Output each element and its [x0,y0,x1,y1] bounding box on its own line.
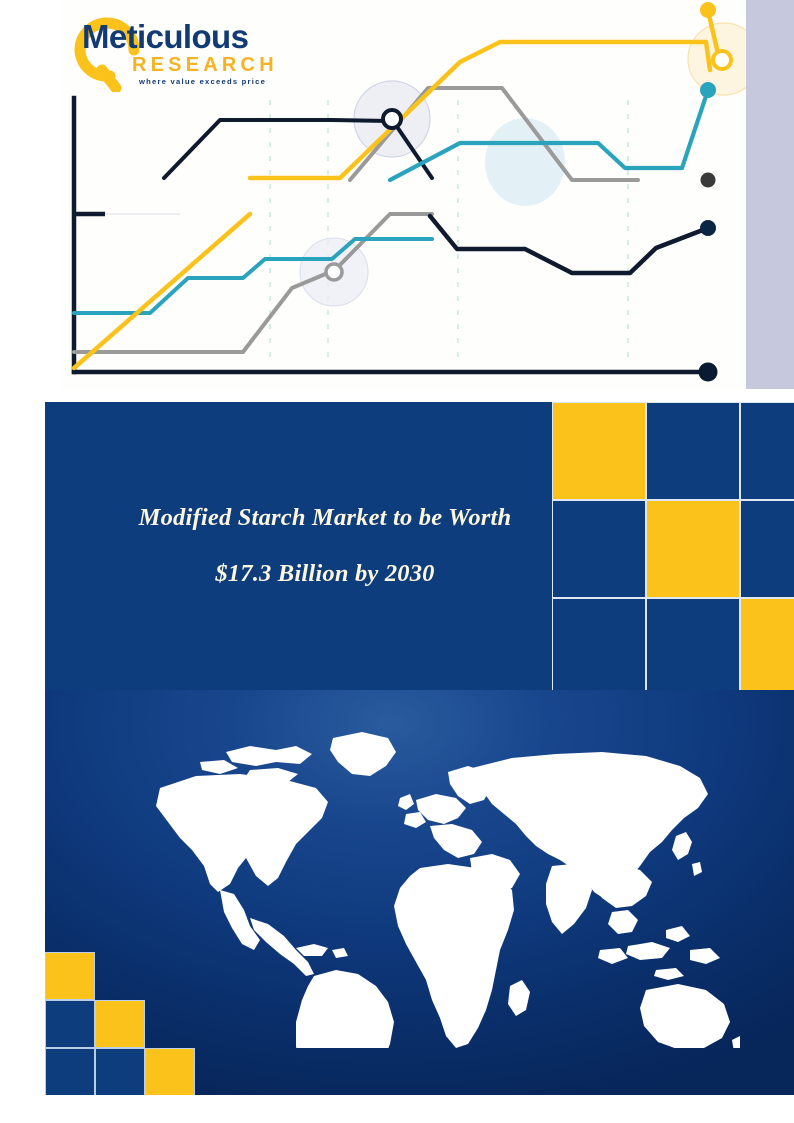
end-dot-ink [700,220,716,236]
grid-cell-r3c3 [740,598,794,690]
page-title-line-1: Modified Starch Market to be Worth [75,490,575,546]
marker-gray-hollow [326,264,342,280]
logo-svg: Meticulous RESEARCH where value exceeds … [72,6,302,92]
logo-wordmark-primary: Meticulous [82,18,248,55]
stair-cell-r3c3 [145,1048,195,1095]
grid-cell-r1c1 [552,402,646,500]
world-map-panel [45,690,794,1095]
world-map-landmass [156,732,740,1048]
stair-cell-r2c1 [45,1000,95,1048]
page-title: Modified Starch Market to be Worth $17.3… [75,490,575,602]
report-cover-page: Meticulous RESEARCH where value exceeds … [0,0,794,1123]
right-accent-band [746,0,794,389]
end-dot-yellow [700,2,716,18]
end-dot-teal [700,82,716,98]
checker-grid-decoration [552,402,794,690]
end-dot-baseline [699,363,718,382]
meticulous-research-logo[interactable]: Meticulous RESEARCH where value exceeds … [72,6,302,92]
marker-yellow-hollow [713,51,731,69]
grid-cell-r2c1 [552,500,646,598]
grid-cell-r2c3 [740,500,794,598]
grid-cell-r3c1 [552,598,646,690]
grid-cell-r1c2 [646,402,740,500]
page-title-line-2: $17.3 Billion by 2030 [75,546,575,602]
stair-cell-r3c1 [45,1048,95,1095]
stair-cell-r1c1 [45,952,95,1000]
grid-cell-r1c3 [740,402,794,500]
stair-cell-r2c2 [95,1000,145,1048]
end-dot-gray [701,173,716,188]
stair-cell-r3c2 [95,1048,145,1095]
staircase-grid-decoration [45,952,205,1095]
grid-cell-r2c2 [646,500,740,598]
title-banner: Modified Starch Market to be Worth $17.3… [45,402,794,690]
logo-tagline: where value exceeds price [138,77,266,86]
grid-cell-r3c2 [646,598,740,690]
logo-wordmark-secondary: RESEARCH [132,54,278,76]
marker-ink-hollow [383,110,401,128]
